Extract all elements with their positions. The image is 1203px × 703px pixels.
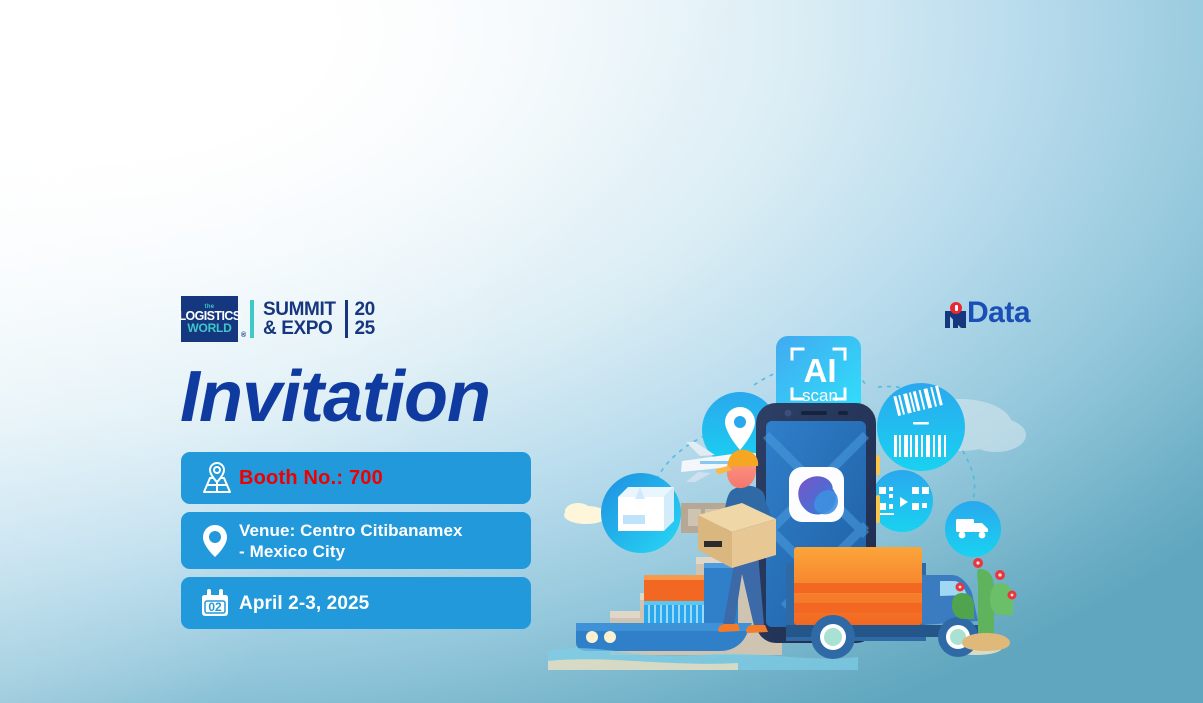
logo-separator-bar [250,300,254,338]
venue-info-box: Venue: Centro Citibanamex - Mexico City [181,512,531,569]
calendar-icon: 02 [191,583,239,623]
truck-wheel-front [811,615,855,659]
summit-text: SUMMIT [263,300,336,320]
delivery-truck-bubble-icon [945,501,1001,557]
logo-world-text: WORLD [187,322,231,334]
invitation-banner: AI scan [0,0,1203,703]
logo-year-separator [345,300,348,338]
location-pin-icon [191,521,239,561]
shipping-containers [644,563,738,629]
venue-line-2: - Mexico City [239,541,463,562]
svg-text:02: 02 [208,600,222,614]
delivery-truck [786,547,978,659]
nidata-brand-logo: Data [945,288,1030,328]
page-title: Invitation [180,358,490,436]
expo-text: & EXPO [263,319,336,339]
venue-line-1: Venue: Centro Citibanamex [239,520,463,541]
event-date-text: April 2-3, 2025 [239,593,369,614]
year-top-text: 20 [355,300,375,320]
nidata-mark-icon [945,302,966,328]
date-info-box: 02 April 2-3, 2025 [181,577,531,629]
logo-registered-mark: ® [241,332,246,339]
logistics-illustration: AI scan [548,325,1048,670]
event-logo: the LOGISTICS WORLD ® SUMMIT & EXPO 20 2… [181,296,375,342]
logistics-world-badge: the LOGISTICS WORLD [181,296,238,342]
year-bottom-text: 25 [355,319,375,339]
svg-text:AI: AI [804,352,837,389]
barcode-bubble-icon [877,383,965,471]
qr-transfer-bubble-icon [871,470,933,532]
booth-map-pin-icon [191,458,239,498]
svg-text:scan: scan [802,386,838,405]
booth-number-text: Booth No.: 700 [239,467,383,490]
package-box-bubble-icon [601,473,681,553]
ai-scan-badge: AI scan [776,336,861,414]
nidata-wordmark: Data [967,298,1030,328]
booth-info-box: Booth No.: 700 [181,452,531,504]
